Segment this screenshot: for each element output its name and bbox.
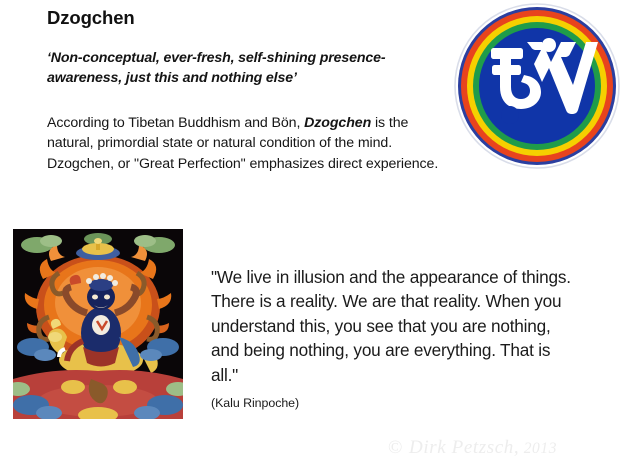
tibetan-a-emblem bbox=[453, 2, 621, 170]
body-emphasis-dzogchen: Dzogchen bbox=[304, 115, 371, 131]
pull-quote-text: "We live in illusion and the appearance … bbox=[211, 265, 571, 387]
subtitle-quote: ‘Non-conceptual, ever-fresh, self-shinin… bbox=[47, 48, 419, 88]
copyright-name: Dirk Petzsch, bbox=[409, 437, 519, 458]
copyright-year: 2013 bbox=[519, 440, 557, 457]
thangka-graphic bbox=[13, 229, 183, 419]
copyright-watermark: ©Dirk Petzsch, 2013 bbox=[388, 437, 557, 459]
copyright-icon: © bbox=[388, 437, 409, 458]
thangka-image bbox=[13, 229, 183, 419]
emblem-graphic bbox=[453, 2, 621, 170]
pull-quote-attribution: (Kalu Rinpoche) bbox=[211, 395, 299, 411]
page-title: Dzogchen bbox=[47, 6, 135, 29]
body-paragraph: According to Tibetan Buddhism and Bön, D… bbox=[47, 113, 447, 174]
body-text-part1: According to Tibetan Buddhism and Bön, bbox=[47, 115, 304, 131]
